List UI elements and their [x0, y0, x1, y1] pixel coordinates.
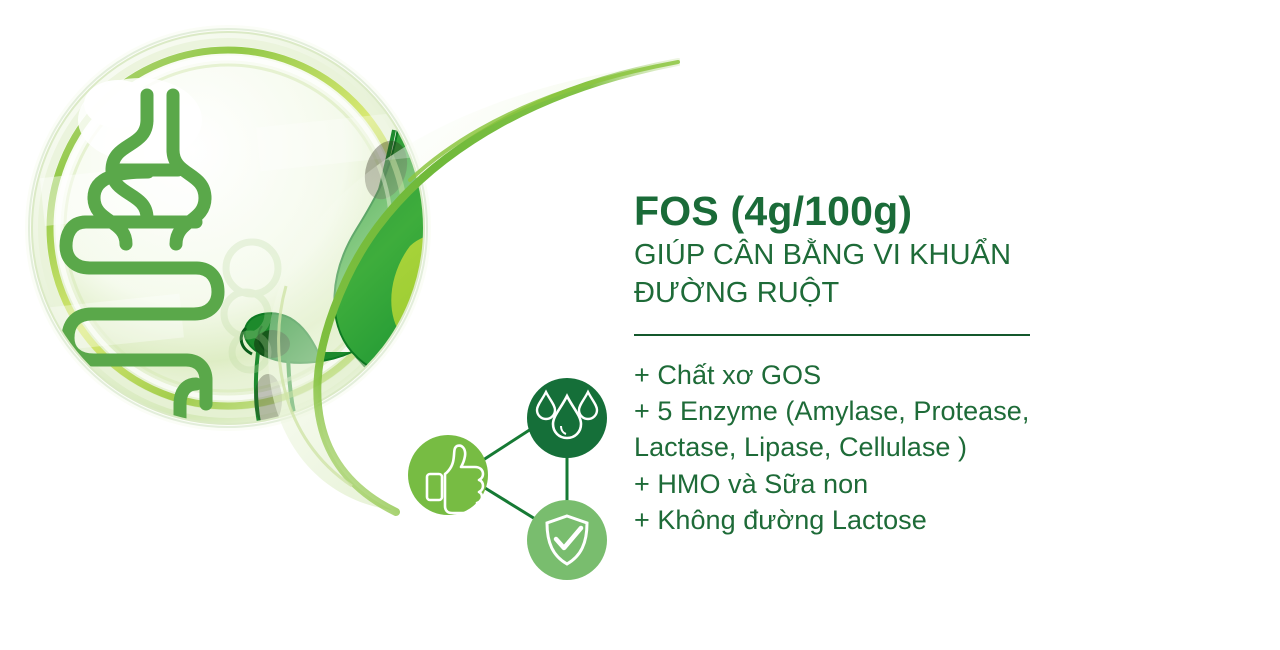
list-item: + HMO và Sữa non — [634, 466, 1104, 502]
infographic-canvas: FOS (4g/100g) GIÚP CÂN BẰNG VI KHUẨN ĐƯỜ… — [0, 0, 1280, 650]
divider — [634, 334, 1030, 336]
list-item: + Không đường Lactose — [634, 502, 1104, 538]
subtitle-line-1: GIÚP CÂN BẰNG VI KHUẨN — [634, 237, 1104, 274]
text-panel: FOS (4g/100g) GIÚP CÂN BẰNG VI KHUẨN ĐƯỜ… — [634, 190, 1104, 554]
page-subtitle: GIÚP CÂN BẰNG VI KHUẨN ĐƯỜNG RUỘT — [634, 237, 1104, 311]
page-title: FOS (4g/100g) — [634, 190, 1104, 233]
benefit-list: + Chất xơ GOS + 5 Enzyme (Amylase, Prote… — [634, 357, 1104, 539]
list-item: + Chất xơ GOS — [634, 357, 1104, 393]
list-item: + 5 Enzyme (Amylase, Protease, Lactase, … — [634, 393, 1104, 466]
shield-check-icon[interactable] — [527, 500, 607, 580]
water-droplets-icon[interactable] — [527, 378, 607, 458]
subtitle-line-2: ĐƯỜNG RUỘT — [634, 275, 1104, 312]
benefit-icon-cluster — [395, 370, 630, 585]
thumbs-up-icon[interactable] — [408, 435, 488, 515]
